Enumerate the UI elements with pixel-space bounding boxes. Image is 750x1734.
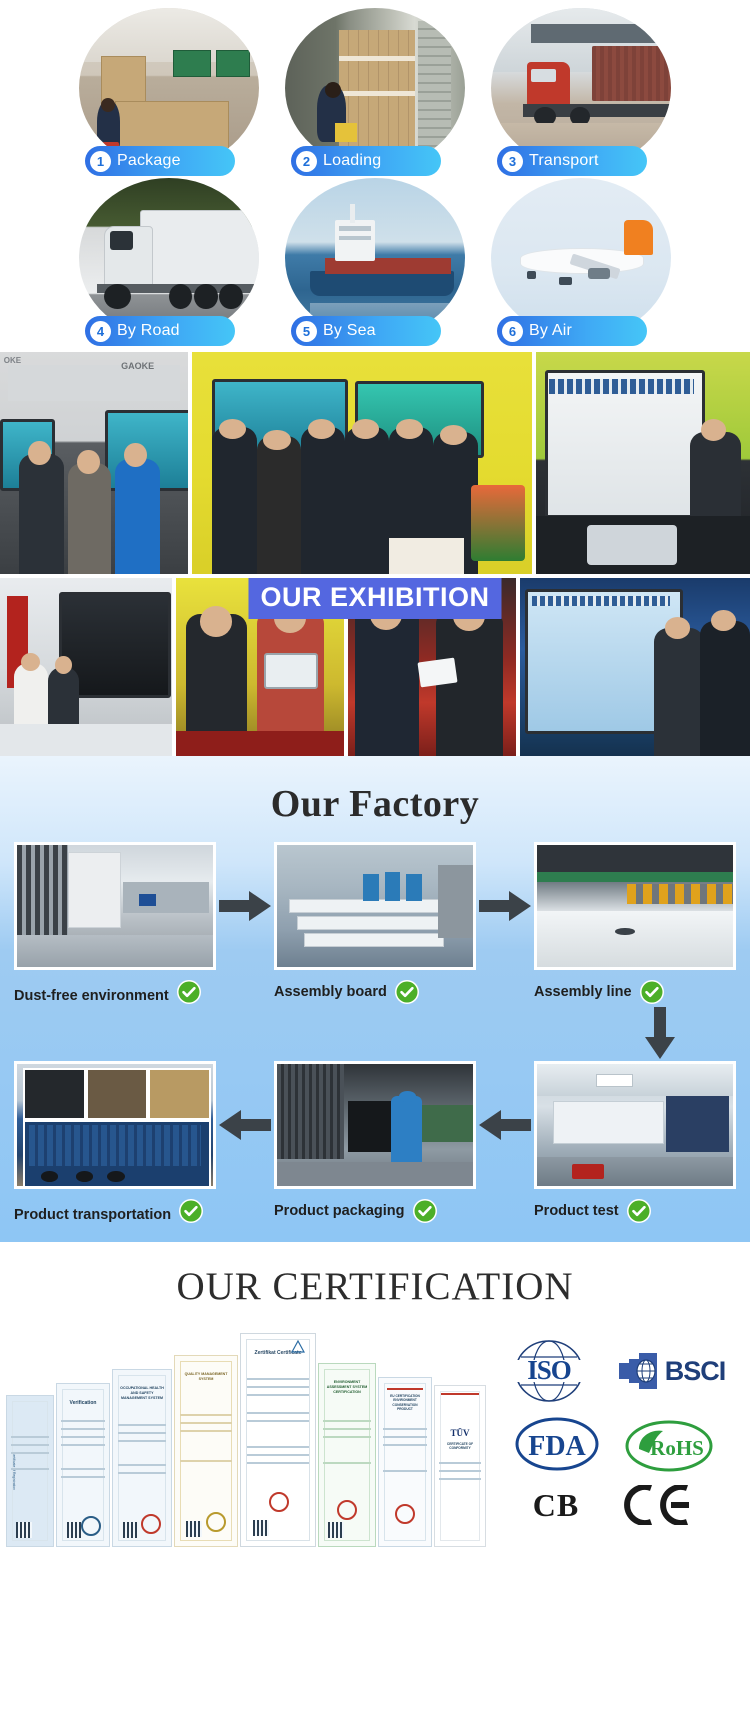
shipping-step-by-sea[interactable]: 5 By Sea: [285, 178, 465, 338]
product-packaging-photo: [274, 1061, 476, 1189]
step-label: Transport: [529, 152, 599, 170]
factory-title: Our Factory: [0, 768, 750, 842]
tuv-logo: TÜV: [435, 1428, 485, 1438]
step-number: 4: [90, 321, 111, 342]
exhibition-photo-7: [520, 578, 750, 756]
dust-free-caption: Dust-free environment: [14, 970, 216, 1005]
factory-step-product-test[interactable]: Product test: [534, 1061, 736, 1224]
shipping-row-1: 1 Package: [0, 8, 750, 168]
factory-row-1: Dust-free environment: [14, 842, 736, 1005]
transport-badge: 3 Transport: [497, 146, 647, 176]
assembly-line-photo: [534, 842, 736, 970]
step-label: Package: [117, 152, 181, 170]
certificate-title-text: EU CERTIFICATION ENVIRONMENT CONSERVATIO…: [385, 1394, 425, 1412]
exhibition-photo-1: OKE GAOKE: [0, 352, 188, 574]
check-icon: [639, 979, 665, 1005]
package-photo: [79, 8, 259, 168]
product-packaging-caption: Product packaging: [274, 1189, 476, 1224]
package-badge: 1 Package: [85, 146, 235, 176]
factory-flow: Dust-free environment: [0, 842, 750, 1224]
by-sea-photo: [285, 178, 465, 338]
exhibition-photo-2: [192, 352, 532, 574]
factory-step-product-transportation[interactable]: Product transportation: [14, 1061, 216, 1224]
assembly-line-label: Assembly line: [534, 983, 632, 1001]
arrow-right-icon-1: [219, 842, 271, 970]
exhibition-photo-4: [0, 578, 172, 756]
svg-text:RoHS: RoHS: [650, 1436, 704, 1460]
product-transportation-photo: [14, 1061, 216, 1189]
certificate-occupational-health[interactable]: Certificate of Registration: [6, 1395, 54, 1547]
rohs-logo: RoHS: [623, 1419, 715, 1469]
shipping-step-transport[interactable]: 3 Transport: [491, 8, 671, 168]
step-number: 5: [296, 321, 317, 342]
product-detail-page: 1 Package: [0, 0, 750, 1557]
step-label: By Road: [117, 322, 180, 340]
certificate-environment-assessment[interactable]: ENVIRONMENT ASSESSMENT SYSTEM CERTIFICAT…: [318, 1363, 376, 1547]
product-packaging-label: Product packaging: [274, 1202, 405, 1220]
dust-free-photo: [14, 842, 216, 970]
certificate-eu[interactable]: EU CERTIFICATION ENVIRONMENT CONSERVATIO…: [378, 1377, 432, 1547]
certificate-verification[interactable]: Verification: [56, 1383, 110, 1547]
by-road-photo: [79, 178, 259, 338]
logo-row-2: FDA RoHS: [494, 1415, 734, 1473]
certificate-occupational-health-system[interactable]: OCCUPATIONAL HEALTH AND SAFETY MANAGEMEN…: [112, 1369, 172, 1547]
product-transportation-caption: Product transportation: [14, 1189, 216, 1224]
ce-logo: [621, 1485, 695, 1525]
certification-title: OUR CERTIFICATION: [0, 1264, 750, 1333]
certification-section: OUR CERTIFICATION Certificate of Registr…: [0, 1242, 750, 1557]
certification-logos: ISO BSCI: [486, 1333, 750, 1525]
shipping-row-2: 4 By Road: [0, 178, 750, 338]
cb-logo: CB: [533, 1487, 579, 1524]
certificate-title-text: QUALITY MANAGEMENT SYSTEM: [181, 1372, 231, 1382]
shipping-step-by-road[interactable]: 4 By Road: [79, 178, 259, 338]
shipping-methods-section: 1 Package: [0, 0, 750, 352]
step-label: By Sea: [323, 322, 376, 340]
exhibition-banner: OUR EXHIBITION: [248, 578, 501, 619]
factory-section: Our Factory Dust-free environment: [0, 756, 750, 1242]
check-icon: [178, 1198, 204, 1224]
fda-logo: FDA: [513, 1415, 601, 1473]
exhibition-photo-3: [536, 352, 750, 574]
product-test-caption: Product test: [534, 1189, 736, 1224]
by-road-badge: 4 By Road: [85, 316, 235, 346]
shipping-step-by-air[interactable]: 6 By Air: [491, 178, 671, 338]
by-sea-badge: 5 By Sea: [291, 316, 441, 346]
exhibition-row-1: OKE GAOKE: [0, 352, 750, 574]
check-icon: [394, 979, 420, 1005]
by-air-badge: 6 By Air: [497, 316, 647, 346]
exhibition-section: OKE GAOKE: [0, 352, 750, 756]
assembly-board-caption: Assembly board: [274, 970, 476, 1005]
step-number: 1: [90, 151, 111, 172]
certificate-title-text: OCCUPATIONAL HEALTH AND SAFETY MANAGEMEN…: [119, 1386, 165, 1401]
bsci-logo: BSCI: [617, 1349, 726, 1393]
arrow-left-icon-2: [479, 1061, 531, 1189]
certificate-title-text: CERTIFICATE OF CONFORMITY: [441, 1442, 479, 1451]
svg-text:ISO: ISO: [527, 1355, 571, 1385]
certificate-gallery: Certificate of Registration Verification: [0, 1333, 486, 1547]
assembly-board-photo: [274, 842, 476, 970]
svg-text:FDA: FDA: [528, 1431, 586, 1462]
bsci-text: BSCI: [665, 1356, 726, 1387]
arrow-left-icon-1: [219, 1061, 271, 1189]
step-label: By Air: [529, 322, 572, 340]
by-air-photo: [491, 178, 671, 338]
product-transportation-label: Product transportation: [14, 1206, 171, 1224]
factory-row-2: Product transportation: [14, 1061, 736, 1224]
arrow-right-icon-2: [479, 842, 531, 970]
certificate-quality-management[interactable]: QUALITY MANAGEMENT SYSTEM: [174, 1355, 238, 1547]
factory-step-assembly-board[interactable]: Assembly board: [274, 842, 476, 1005]
iso-logo: ISO: [503, 1339, 595, 1403]
dust-free-label: Dust-free environment: [14, 987, 169, 1005]
shipping-step-loading[interactable]: 2 Loading: [285, 8, 465, 168]
arrow-down-icon: [606, 1007, 714, 1059]
loading-photo: [285, 8, 465, 168]
assembly-board-label: Assembly board: [274, 983, 387, 1001]
check-icon: [176, 979, 202, 1005]
logo-row-1: ISO BSCI: [494, 1339, 734, 1403]
factory-step-assembly-line[interactable]: Assembly line: [534, 842, 736, 1005]
factory-step-dust-free[interactable]: Dust-free environment: [14, 842, 216, 1005]
certificate-title-text: ENVIRONMENT ASSESSMENT SYSTEM CERTIFICAT…: [325, 1380, 369, 1395]
certificate-zertifikat[interactable]: Zertifikat Certificate: [240, 1333, 316, 1547]
certificate-tuv-conformity[interactable]: TÜV CERTIFICATE OF CONFORMITY: [434, 1385, 486, 1547]
product-test-label: Product test: [534, 1202, 619, 1220]
certification-body: Certificate of Registration Verification: [0, 1333, 750, 1547]
step-number: 3: [502, 151, 523, 172]
assembly-line-caption: Assembly line: [534, 970, 736, 1005]
step-number: 6: [502, 321, 523, 342]
product-test-photo: [534, 1061, 736, 1189]
transport-photo: [491, 8, 671, 168]
step-number: 2: [296, 151, 317, 172]
factory-step-product-packaging[interactable]: Product packaging: [274, 1061, 476, 1224]
factory-arrow-down-row: [14, 1005, 736, 1061]
check-icon: [412, 1198, 438, 1224]
step-label: Loading: [323, 152, 381, 170]
loading-badge: 2 Loading: [291, 146, 441, 176]
logo-row-3: CB: [494, 1485, 734, 1525]
shipping-step-package[interactable]: 1 Package: [79, 8, 259, 168]
check-icon: [626, 1198, 652, 1224]
